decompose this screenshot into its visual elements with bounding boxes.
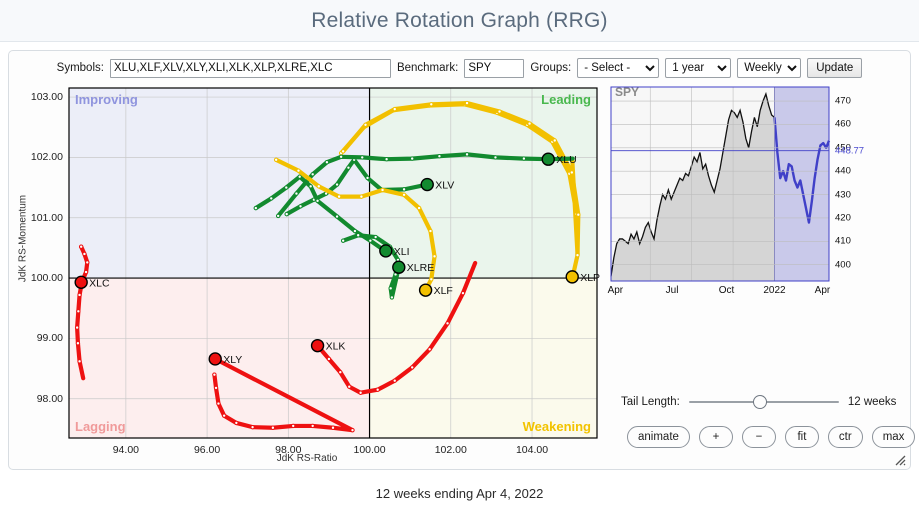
x-axis-tick: 100.00: [340, 444, 400, 456]
spy-y-tick: 470: [835, 96, 851, 107]
tail-node: [553, 139, 556, 142]
rrg-svg[interactable]: ImprovingLeadingLaggingWeakeningXLUXLVXL…: [11, 83, 603, 468]
marker-label: XLY: [223, 354, 242, 366]
symbols-label: Symbols:: [57, 62, 104, 74]
tail-node: [576, 253, 579, 256]
marker-dot[interactable]: [566, 271, 578, 283]
tail-node: [311, 424, 314, 427]
tail-node: [351, 428, 354, 431]
tail-node: [335, 183, 338, 186]
tail-node: [522, 157, 525, 160]
tail-node: [528, 122, 531, 125]
spy-chart-svg[interactable]: [607, 83, 907, 298]
groups-select[interactable]: - Select -: [577, 58, 659, 78]
tail-node: [214, 386, 217, 389]
page-header: Relative Rotation Graph (RRG): [0, 0, 919, 42]
tail-node: [78, 360, 81, 363]
tail-node: [270, 197, 273, 200]
chart-button-plus[interactable]: +: [699, 426, 733, 448]
groups-label: Groups:: [530, 62, 571, 74]
tail-node: [339, 155, 342, 158]
x-axis-tick: 96.00: [177, 444, 237, 456]
tail-node: [299, 205, 302, 208]
tail-node: [75, 326, 78, 329]
tail-node: [331, 426, 334, 429]
tail-length-slider[interactable]: [689, 395, 839, 409]
tail-node: [254, 206, 257, 209]
spy-y-tick: 430: [835, 189, 851, 200]
y-axis-tick: 100.00: [15, 272, 63, 284]
frequency-select[interactable]: Weekly: [737, 58, 801, 78]
spy-x-tick: Apr: [608, 285, 624, 296]
tail-node: [376, 388, 379, 391]
tail-node: [271, 426, 274, 429]
tail-node: [393, 379, 396, 382]
marker-XLV[interactable]: XLV: [421, 179, 454, 192]
y-axis-tick: 102.00: [15, 151, 63, 163]
tail-node: [374, 235, 377, 238]
symbols-input[interactable]: [110, 59, 391, 78]
tail-node: [311, 173, 314, 176]
y-axis-tick: 98.00: [15, 393, 63, 405]
marker-XLY[interactable]: XLY: [209, 353, 242, 366]
tail-node: [285, 186, 288, 189]
tail-node: [213, 373, 216, 376]
tail-node: [217, 402, 220, 405]
y-axis-tick: 99.00: [15, 332, 63, 344]
tail-node: [465, 101, 468, 104]
marker-XLP[interactable]: XLP: [566, 271, 600, 284]
tail-node: [360, 195, 363, 198]
tail-node: [298, 175, 301, 178]
y-axis-tick: 103.00: [15, 91, 63, 103]
marker-XLF[interactable]: XLF: [420, 284, 453, 297]
marker-dot[interactable]: [542, 153, 554, 165]
tail-node: [577, 213, 580, 216]
spy-current-value: 448.77: [835, 145, 864, 156]
tail-node: [341, 239, 344, 242]
quadrant-weakening: [370, 278, 597, 438]
marker-XLI[interactable]: XLI: [380, 245, 410, 258]
update-button[interactable]: Update: [807, 58, 862, 78]
marker-XLRE[interactable]: XLRE: [393, 261, 434, 274]
spy-x-tick: Jul: [666, 285, 679, 296]
tail-node: [417, 206, 420, 209]
tail-node: [356, 234, 359, 237]
tail-node: [251, 425, 254, 428]
marker-label: XLP: [580, 272, 600, 284]
tail-length-value: 12 weeks: [848, 396, 897, 408]
tail-node: [428, 348, 431, 351]
tail-node: [402, 193, 405, 196]
tail-node: [393, 107, 396, 110]
marker-dot[interactable]: [312, 340, 324, 352]
spy-y-tick: 410: [835, 236, 851, 247]
x-axis-tick: 98.00: [258, 444, 318, 456]
marker-dot[interactable]: [393, 261, 405, 273]
marker-dot[interactable]: [421, 179, 433, 191]
marker-dot[interactable]: [380, 245, 392, 257]
tail-node: [297, 169, 300, 172]
tail-node: [429, 229, 432, 232]
spy-y-tick: 420: [835, 212, 851, 223]
marker-label: XLV: [435, 180, 454, 192]
marker-label: XLF: [434, 285, 453, 297]
tail-node: [316, 199, 319, 202]
tail-node: [335, 215, 338, 218]
tail-node: [570, 171, 573, 174]
quadrant-improving: [69, 88, 370, 278]
tail-node: [76, 342, 79, 345]
marker-dot[interactable]: [75, 276, 87, 288]
tail-node: [317, 185, 320, 188]
tail-node: [86, 261, 89, 264]
tail-length-label: Tail Length:: [621, 396, 680, 408]
tail-node: [235, 421, 238, 424]
chart-button-max[interactable]: max: [872, 426, 916, 448]
tail-length-row: Tail Length: 12 weeks: [621, 391, 906, 413]
tail-node: [337, 195, 340, 198]
tail-node: [291, 424, 294, 427]
marker-label: XLK: [326, 341, 346, 353]
tail-node: [78, 293, 81, 296]
tail-node: [222, 414, 225, 417]
marker-label: XLU: [556, 154, 576, 166]
quadrant-label-leading: Leading: [541, 92, 591, 107]
tail-node: [84, 270, 87, 273]
spy-x-tick: 2022: [763, 285, 785, 296]
slider-thumb[interactable]: [753, 395, 767, 409]
tail-node: [353, 229, 356, 232]
marker-XLC[interactable]: XLC: [75, 276, 110, 289]
rrg-app: Relative Rotation Graph (RRG) Symbols: B…: [0, 0, 919, 518]
tail-node: [325, 161, 328, 164]
chart-caption: 12 weeks ending Apr 4, 2022: [0, 486, 919, 501]
chart-button-animate[interactable]: animate: [627, 426, 690, 448]
tail-node: [364, 123, 367, 126]
spy-y-tick: 440: [835, 166, 851, 177]
benchmark-input[interactable]: [464, 59, 524, 78]
tail-node: [494, 156, 497, 159]
x-axis-tick: 94.00: [96, 444, 156, 456]
marker-label: XLC: [89, 277, 110, 289]
rrg-card: Symbols: Benchmark: Groups: - Select - 1…: [8, 50, 911, 470]
tail-node: [498, 110, 501, 113]
tail-node: [411, 157, 414, 160]
marker-XLK[interactable]: XLK: [312, 340, 346, 353]
rrg-plot-area: JdK RS-Momentum JdK RS-Ratio ImprovingLe…: [11, 83, 603, 468]
tail-node: [327, 357, 330, 360]
tail-node: [309, 185, 312, 188]
tail-node: [385, 158, 388, 161]
tail-node: [430, 278, 433, 281]
x-axis-tick: 102.00: [421, 444, 481, 456]
marker-label: XLRE: [407, 262, 434, 274]
tail-node: [276, 214, 279, 217]
quadrant-label-lagging: Lagging: [75, 419, 126, 434]
marker-XLU[interactable]: XLU: [542, 153, 576, 166]
tail-node: [359, 391, 362, 394]
spy-x-tick: Oct: [719, 285, 735, 296]
tail-node: [389, 287, 392, 290]
page-title: Relative Rotation Graph (RRG): [311, 9, 607, 33]
resize-grip-icon[interactable]: [892, 452, 906, 466]
chart-button-minus[interactable]: −: [742, 426, 776, 448]
tail-node: [341, 150, 344, 153]
tail-node: [411, 366, 414, 369]
spy-x-tick: Apr: [815, 285, 831, 296]
tail-node: [83, 252, 86, 255]
chart-action-buttons: animate+−fitctrmax: [627, 426, 915, 448]
quadrant-label-weakening: Weakening: [523, 419, 591, 434]
tail-node: [295, 192, 298, 195]
tail-node: [361, 156, 364, 159]
tail-node: [390, 296, 393, 299]
benchmark-label: Benchmark:: [397, 62, 458, 74]
period-select[interactable]: 1 year: [665, 58, 731, 78]
x-axis-tick: 104.00: [502, 444, 562, 456]
tail-node: [366, 176, 369, 179]
tail-node: [285, 212, 288, 215]
tail-node: [381, 188, 384, 191]
chart-button-fit[interactable]: fit: [785, 426, 819, 448]
tail-node: [438, 154, 441, 157]
tail-node: [402, 188, 405, 191]
spy-panel: SPY 470460450440430420410400448.77AprJul…: [607, 83, 907, 298]
marker-dot[interactable]: [420, 284, 432, 296]
tail-node: [446, 322, 449, 325]
quadrant-label-improving: Improving: [75, 92, 138, 107]
tail-node: [79, 245, 82, 248]
marker-dot[interactable]: [209, 353, 221, 365]
tail-node: [77, 310, 80, 313]
tail-node: [430, 103, 433, 106]
tail-node: [347, 166, 350, 169]
tail-node: [369, 239, 372, 242]
chart-button-ctr[interactable]: ctr: [828, 426, 863, 448]
spy-y-tick: 400: [835, 259, 851, 270]
spy-y-tick: 460: [835, 119, 851, 130]
tail-node: [274, 158, 277, 161]
marker-label: XLI: [394, 246, 410, 258]
tail-node: [461, 291, 464, 294]
y-axis-tick: 101.00: [15, 212, 63, 224]
spy-title: SPY: [615, 85, 639, 99]
tail-node: [465, 153, 468, 156]
tail-node: [433, 255, 436, 258]
rrg-toolbar: Symbols: Benchmark: Groups: - Select - 1…: [9, 55, 910, 81]
tail-node: [348, 385, 351, 388]
tail-node: [339, 371, 342, 374]
